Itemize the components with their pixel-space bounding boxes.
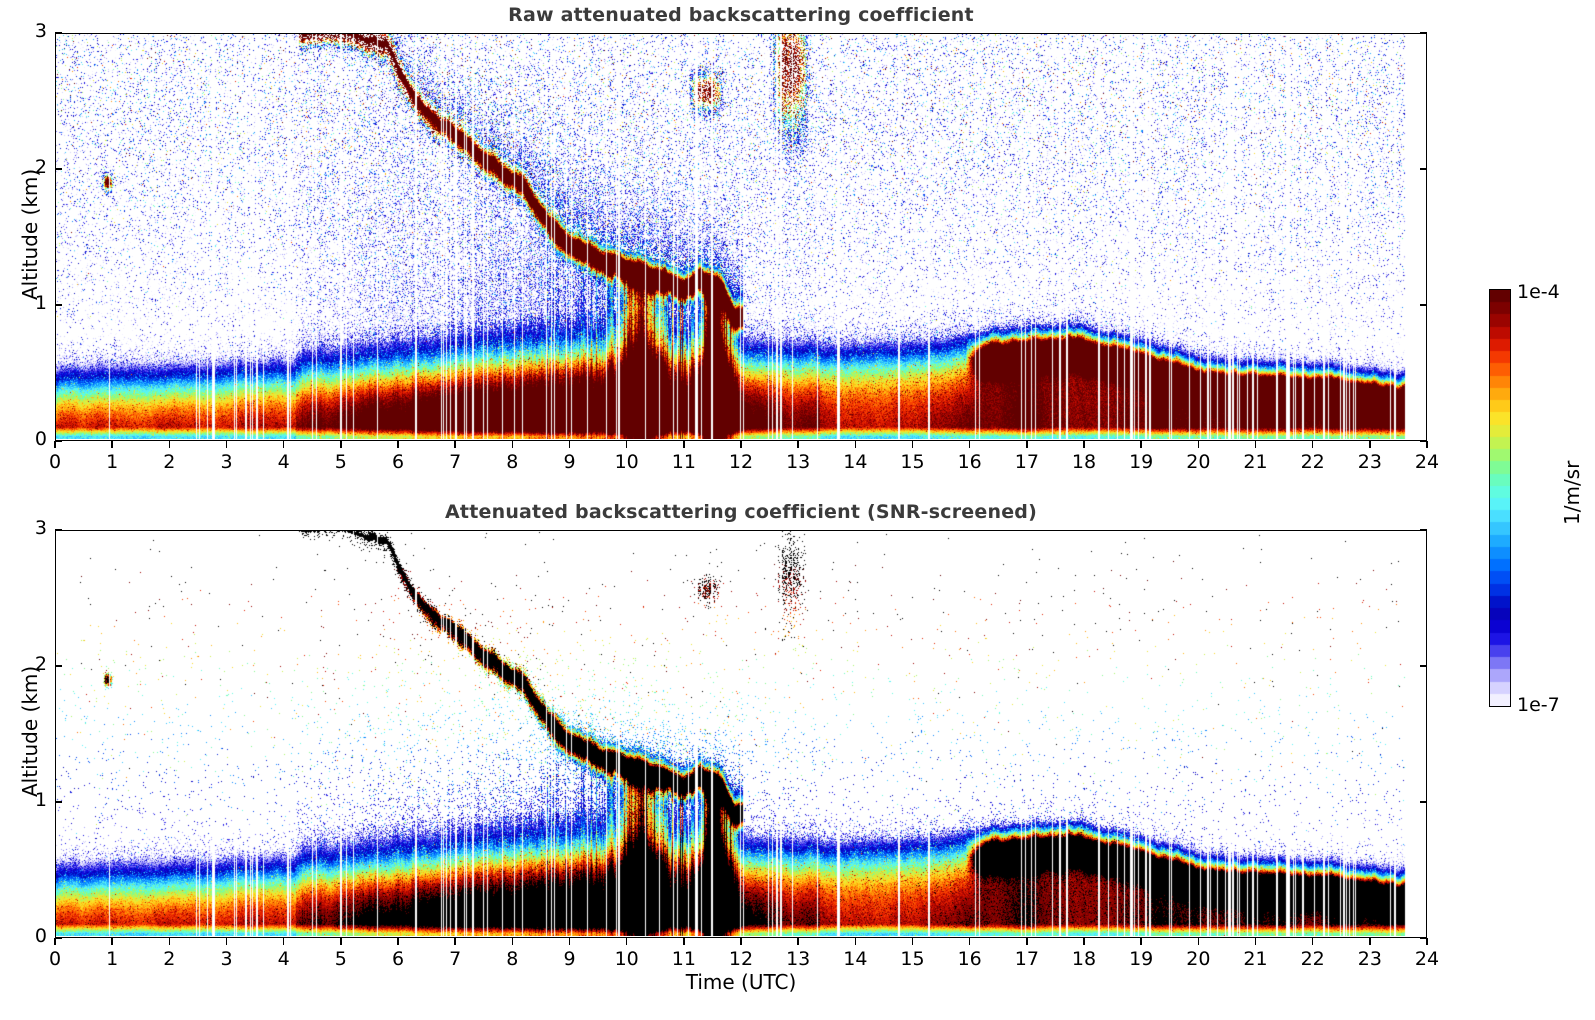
x-tick-label: 0 [30,948,80,970]
x-tick-mark [1312,938,1313,945]
x-tick-label: 2 [144,948,194,970]
x-tick-label: 6 [373,948,423,970]
x-tick-label: 5 [316,948,366,970]
x-tick-label: 20 [1173,948,1223,970]
x-tick-mark [1140,441,1141,448]
x-tick-mark [54,441,55,448]
y-tick-mark [55,168,62,169]
x-tick-label: 3 [202,948,252,970]
x-tick-label: 16 [945,948,995,970]
x-tick-label: 15 [888,451,938,473]
y-tick-mark-right [1420,801,1427,802]
x-tick-label: 19 [1116,948,1166,970]
x-tick-label: 9 [545,451,595,473]
y-tick-mark-right [1420,665,1427,666]
y-tick-label: 0 [7,925,47,947]
x-tick-label: 18 [1059,451,1109,473]
x-tick-label: 3 [202,451,252,473]
x-tick-mark [1369,938,1370,945]
panel-screened-title: Attenuated backscattering coefficient (S… [55,501,1427,523]
colorbar-unit-label: 1/m/sr [1560,461,1584,525]
x-tick-mark [1426,938,1427,945]
x-tick-label: 15 [888,948,938,970]
x-tick-mark [454,441,455,448]
colorbar-canvas [1490,290,1510,706]
y-tick-mark [55,529,62,530]
x-tick-mark [740,441,741,448]
x-tick-label: 13 [773,451,823,473]
x-tick-mark [1026,441,1027,448]
colorbar-max-label: 1e-4 [1517,281,1560,303]
x-tick-mark [340,441,341,448]
x-tick-mark [169,938,170,945]
x-tick-label: 12 [716,451,766,473]
x-tick-mark [1255,441,1256,448]
x-tick-mark [912,938,913,945]
x-tick-label: 24 [1402,451,1452,473]
x-tick-mark [1140,938,1141,945]
x-tick-mark [454,938,455,945]
x-tick-mark [283,441,284,448]
x-tick-label: 1 [87,948,137,970]
x-tick-mark [855,441,856,448]
x-tick-mark [797,938,798,945]
screened-heatmap-canvas [56,531,1425,936]
x-tick-mark [397,441,398,448]
x-tick-mark [397,938,398,945]
y-tick-mark-right [1420,168,1427,169]
x-tick-mark [969,938,970,945]
x-tick-mark [169,441,170,448]
y-tick-mark-right [1420,529,1427,530]
x-tick-label: 8 [487,451,537,473]
x-tick-label: 0 [30,451,80,473]
x-tick-mark [512,441,513,448]
x-tick-label: 18 [1059,948,1109,970]
x-tick-label: 19 [1116,451,1166,473]
x-tick-mark [912,441,913,448]
x-tick-mark [54,938,55,945]
x-tick-label: 16 [945,451,995,473]
y-tick-mark [55,32,62,33]
x-tick-mark [226,441,227,448]
panel-raw-title: Raw attenuated backscattering coefficien… [55,4,1427,26]
x-tick-mark [855,938,856,945]
y-tick-mark-right [1420,937,1427,938]
x-tick-mark [1198,938,1199,945]
x-tick-mark [226,938,227,945]
raw-backscatter-heatmap [55,33,1427,441]
x-tick-label: 17 [1002,451,1052,473]
x-tick-mark [969,441,970,448]
raw-y-axis-label: Altitude (km) [18,169,42,300]
x-tick-mark [626,938,627,945]
x-tick-mark [111,938,112,945]
y-tick-label: 3 [7,517,47,539]
y-tick-mark [55,665,62,666]
x-tick-label: 7 [430,948,480,970]
x-tick-mark [111,441,112,448]
x-tick-label: 1 [87,451,137,473]
x-tick-label: 2 [144,451,194,473]
x-tick-label: 13 [773,948,823,970]
x-tick-label: 10 [602,948,652,970]
y-tick-mark [55,304,62,305]
x-tick-mark [1369,441,1370,448]
y-tick-mark-right [1420,304,1427,305]
x-tick-label: 10 [602,451,652,473]
x-tick-label: 22 [1288,451,1338,473]
x-tick-label: 21 [1231,451,1281,473]
screened-backscatter-heatmap [55,530,1427,938]
x-tick-mark [1255,938,1256,945]
x-tick-label: 9 [545,948,595,970]
x-tick-label: 8 [487,948,537,970]
x-tick-label: 23 [1345,948,1395,970]
x-tick-mark [569,441,570,448]
y-tick-label: 3 [7,20,47,42]
x-tick-label: 6 [373,451,423,473]
x-tick-mark [683,938,684,945]
x-tick-label: 17 [1002,948,1052,970]
x-tick-mark [1026,938,1027,945]
y-tick-mark-right [1420,32,1427,33]
screened-y-axis-label: Altitude (km) [18,666,42,797]
x-tick-label: 11 [659,451,709,473]
x-tick-label: 23 [1345,451,1395,473]
x-tick-label: 7 [430,451,480,473]
x-tick-mark [626,441,627,448]
x-tick-label: 4 [259,948,309,970]
x-tick-label: 24 [1402,948,1452,970]
colorbar-gradient [1489,289,1511,707]
x-tick-label: 12 [716,948,766,970]
y-tick-mark [55,440,62,441]
x-tick-label: 22 [1288,948,1338,970]
x-tick-mark [1198,441,1199,448]
x-tick-mark [512,938,513,945]
y-tick-mark [55,937,62,938]
x-tick-label: 21 [1231,948,1281,970]
raw-heatmap-canvas [56,34,1425,439]
x-tick-mark [740,938,741,945]
x-tick-mark [283,938,284,945]
screened-x-axis-label: Time (UTC) [0,970,1482,994]
y-tick-mark [55,801,62,802]
x-tick-label: 4 [259,451,309,473]
y-tick-mark-right [1420,440,1427,441]
x-tick-mark [1083,938,1084,945]
x-tick-mark [340,938,341,945]
x-tick-label: 20 [1173,451,1223,473]
x-tick-label: 5 [316,451,366,473]
x-tick-mark [1083,441,1084,448]
y-tick-label: 0 [7,428,47,450]
x-tick-label: 11 [659,948,709,970]
x-tick-label: 14 [830,948,880,970]
x-tick-mark [797,441,798,448]
x-tick-mark [683,441,684,448]
colorbar-min-label: 1e-7 [1517,694,1560,716]
x-tick-mark [569,938,570,945]
x-tick-mark [1426,441,1427,448]
x-tick-mark [1312,441,1313,448]
x-tick-label: 14 [830,451,880,473]
